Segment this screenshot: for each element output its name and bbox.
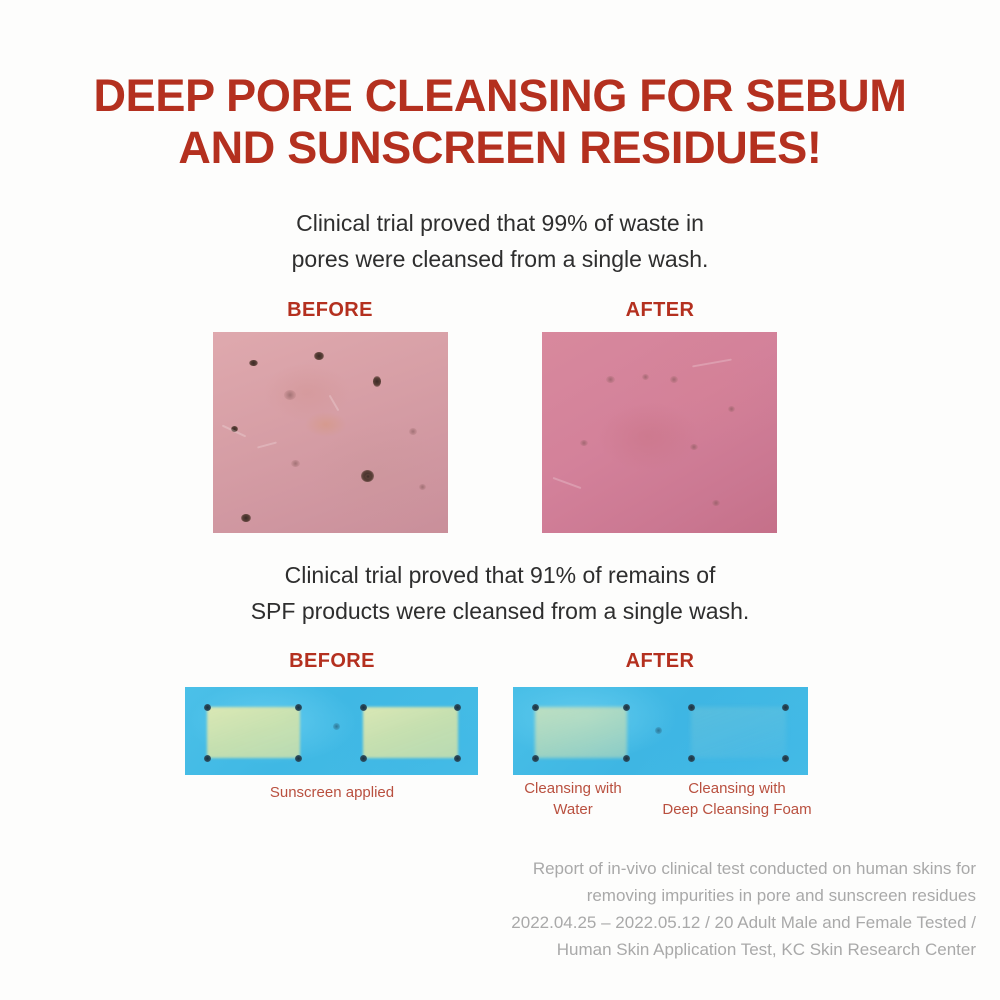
before-label-pores: BEFORE [230,299,430,322]
marker-dot [532,704,539,711]
skin-texture [553,477,582,489]
marker-dot [655,727,662,734]
marker-dot [688,704,695,711]
pore-spot [314,352,324,360]
claim-text-pores: Clinical trial proved that 99% of waste … [0,205,1000,277]
pore-spot [284,390,296,400]
pore-spot [606,376,615,383]
after-label-spf: AFTER [560,650,760,673]
claim-text-spf-line-2: SPF products were cleansed from a single… [0,593,1000,629]
pore-spot [670,376,678,383]
pore-spot [642,374,649,380]
marker-dot [782,755,789,762]
pore-spot [291,460,300,467]
claim-text-pores-line-1: Clinical trial proved that 99% of waste … [0,205,1000,241]
skin-pores-after-photo [542,332,777,533]
caption-cleansing-foam: Cleansing with Deep Cleansing Foam [645,778,829,820]
marker-dot [204,704,211,711]
caption-cleansing-foam-line-2: Deep Cleansing Foam [645,799,829,820]
uv-sunscreen-patch [207,707,300,758]
marker-dot [295,704,302,711]
marker-dot [532,755,539,762]
promo-page: DEEP PORE CLEANSING FOR SEBUM AND SUNSCR… [0,0,1000,1000]
pore-spot [241,514,251,522]
pore-spot [373,376,381,387]
uv-sunscreen-patch-water [535,707,627,758]
disclaimer-line-3: 2022.04.25 – 2022.05.12 / 20 Adult Male … [0,909,976,936]
disclaimer-line-1: Report of in-vivo clinical test conducte… [0,855,976,882]
skin-pores-before-photo [213,332,448,533]
marker-dot [360,755,367,762]
pore-spot [712,500,720,506]
pore-spot [419,484,426,490]
marker-dot [454,704,461,711]
uv-sunscreen-before-photo [185,687,478,775]
marker-dot [295,755,302,762]
claim-text-pores-line-2: pores were cleansed from a single wash. [0,241,1000,277]
uv-sunscreen-patch-foam [691,707,786,758]
marker-dot [623,704,630,711]
caption-cleansing-water-line-1: Cleansing with [490,778,656,799]
page-title-line-1: DEEP PORE CLEANSING FOR SEBUM [0,70,1000,122]
pore-spot [580,440,588,446]
marker-dot [333,723,340,730]
caption-cleansing-foam-line-1: Cleansing with [645,778,829,799]
marker-dot [688,755,695,762]
skin-texture [329,395,340,412]
pore-spot [365,474,371,479]
page-title-line-2: AND SUNSCREEN RESIDUES! [0,122,1000,174]
marker-dot [454,755,461,762]
disclaimer-line-4: Human Skin Application Test, KC Skin Res… [0,936,976,963]
skin-texture [692,359,732,368]
pore-spot [409,428,417,435]
pore-spot [728,406,735,412]
pore-spot [249,360,258,366]
claim-text-spf: Clinical trial proved that 91% of remain… [0,557,1000,629]
marker-dot [623,755,630,762]
claim-text-spf-line-1: Clinical trial proved that 91% of remain… [0,557,1000,593]
caption-cleansing-water: Cleansing with Water [490,778,656,820]
marker-dot [360,704,367,711]
caption-cleansing-water-line-2: Water [490,799,656,820]
marker-dot [204,755,211,762]
uv-sunscreen-after-photo [513,687,808,775]
before-label-spf: BEFORE [232,650,432,673]
skin-texture [257,441,277,448]
disclaimer-line-2: removing impurities in pore and sunscree… [0,882,976,909]
page-title: DEEP PORE CLEANSING FOR SEBUM AND SUNSCR… [0,70,1000,174]
marker-dot [782,704,789,711]
after-label-pores: AFTER [560,299,760,322]
clinical-test-disclaimer: Report of in-vivo clinical test conducte… [0,855,976,963]
caption-sunscreen-applied: Sunscreen applied [232,782,432,803]
uv-sunscreen-patch [363,707,458,758]
pore-spot [690,444,698,450]
